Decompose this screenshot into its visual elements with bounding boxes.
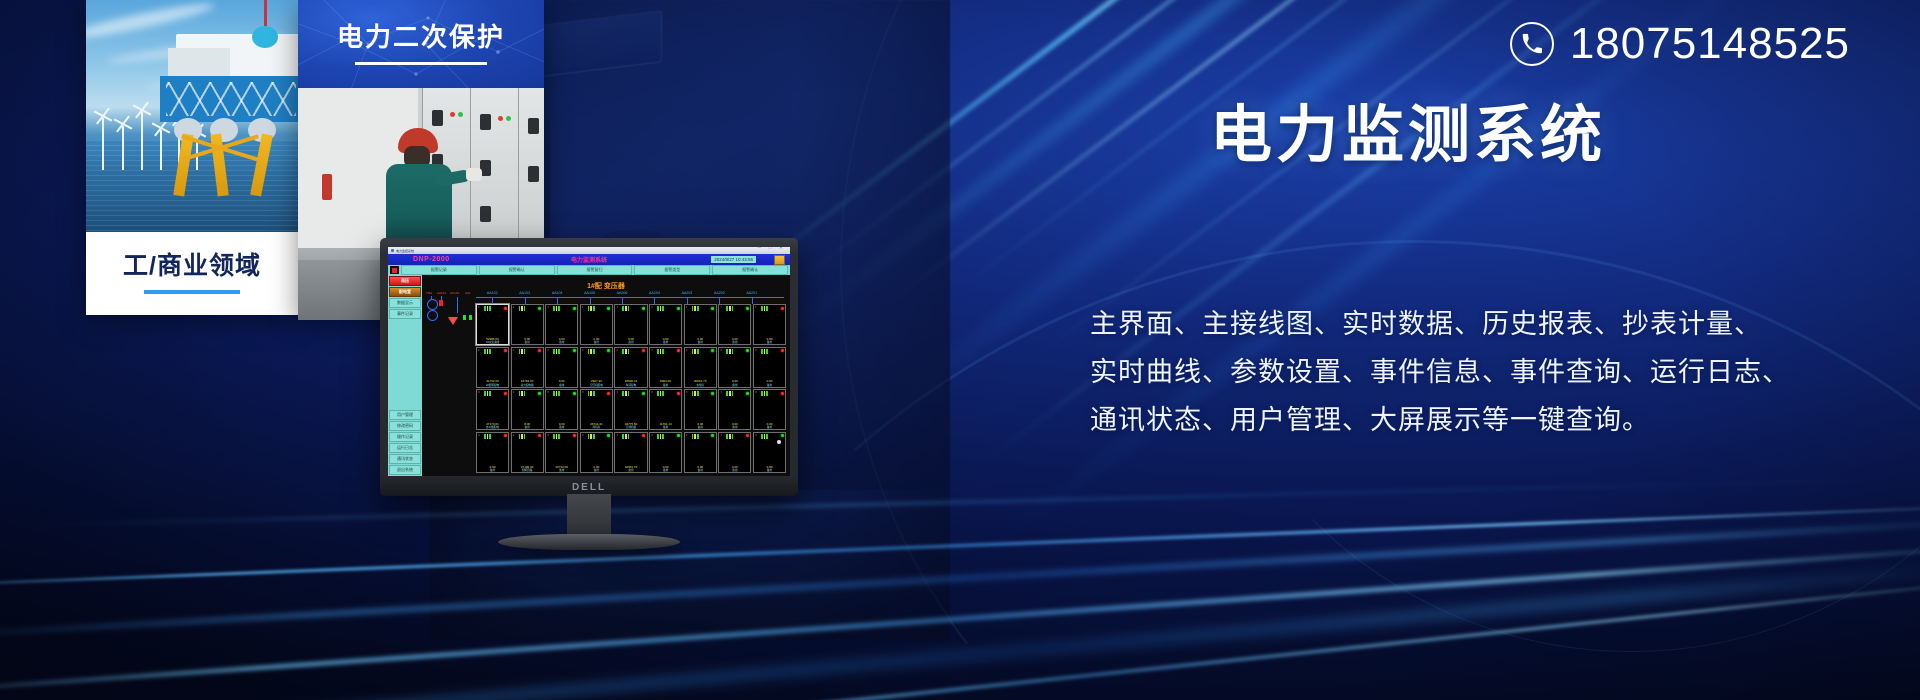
sidebar-spacer — [389, 320, 421, 409]
sidebar-item-oplog[interactable]: 操作记录 — [389, 432, 421, 442]
caption-underline — [144, 290, 240, 294]
feeder-bars — [726, 434, 733, 439]
feeder-column-header: AA104 — [552, 291, 563, 295]
feeder-cell[interactable]: 10.00备用 — [753, 304, 786, 345]
feeder-cell[interactable]: 40.00备用 — [649, 432, 682, 473]
busbar — [476, 297, 784, 298]
feeder-cell[interactable]: 10.00备用 — [511, 304, 544, 345]
feeder-grid[interactable]: 152985.601#主变进线10.00备用10.00备用10.00备用10.0… — [476, 304, 786, 473]
feeder-tag: 备用 — [754, 468, 785, 472]
status-led — [504, 434, 507, 437]
feeder-bars — [622, 434, 629, 439]
feeder-index: 1 — [616, 305, 618, 309]
feeder-tag: 水泵房 — [685, 383, 716, 387]
status-led — [781, 307, 784, 310]
sidebar-item-hv[interactable]: 高压 — [389, 276, 421, 286]
monitor-stand-neck — [567, 494, 611, 538]
feeder-cell[interactable]: 218500.41车间配电 — [614, 347, 647, 388]
feeder-cell[interactable]: 40.00备用 — [476, 432, 509, 473]
feeder-index: 4 — [513, 433, 515, 437]
status-led — [607, 307, 610, 310]
sld-label: TM1 — [426, 291, 432, 295]
offshore-platform-photo — [86, 0, 298, 232]
status-led — [711, 392, 714, 395]
feeder-bars — [657, 306, 664, 311]
status-led — [781, 349, 784, 352]
power-led — [777, 440, 781, 444]
status-led — [504, 349, 507, 352]
feeder-cell[interactable]: 40.00备用 — [718, 432, 751, 473]
status-led — [781, 434, 784, 437]
scada-application[interactable]: 电力监控系统 DNP-2000 电力监测系统 2024/8/27 10:43:5… — [388, 247, 790, 476]
feeder-tag: 动力配电箱 — [512, 383, 543, 387]
toolbar-item[interactable]: 报警记录 — [401, 265, 477, 275]
feeder-bars — [692, 349, 699, 354]
monitor-brand-logo: DELL — [572, 482, 606, 493]
feeder-column-header: AA203 — [681, 291, 692, 295]
bus-drop — [525, 297, 526, 304]
feeder-bars — [761, 391, 768, 396]
diagram-title: 1#配 变压器 — [422, 281, 790, 291]
feeder-tag: 照明回路 — [512, 468, 543, 472]
toolbar-item[interactable]: 报警类型 — [634, 265, 710, 275]
feeder-bars — [761, 434, 768, 439]
feeder-cell[interactable]: 30.00备用 — [718, 389, 751, 430]
feeder-bars — [726, 391, 733, 396]
feeder-bars — [519, 349, 526, 354]
phone-number[interactable]: 18075148525 — [1570, 22, 1850, 66]
status-led — [746, 392, 749, 395]
feeder-cell[interactable]: 216763.00动力配电箱 — [511, 347, 544, 388]
feeder-index: 3 — [478, 390, 480, 394]
app-window-titlebar: 电力监控系统 — [388, 247, 790, 254]
status-led — [607, 392, 610, 395]
feeder-tag: 备用 — [650, 468, 681, 472]
feeder-cell[interactable]: 420712.00备用 — [545, 432, 578, 473]
feeder-tag: 备用 — [754, 383, 785, 387]
status-led — [677, 434, 680, 437]
feeder-index: 3 — [720, 390, 722, 394]
status-led — [677, 349, 680, 352]
feeder-index: 3 — [686, 390, 688, 394]
feeder-tag: 备用 — [685, 340, 716, 344]
feeder-index: 4 — [478, 433, 480, 437]
feeder-bars — [692, 391, 699, 396]
feeder-bars — [484, 391, 491, 396]
feeder-tag: 备用 — [685, 468, 716, 472]
toolbar-item[interactable]: 报警确认 — [479, 265, 555, 275]
status-led — [711, 307, 714, 310]
feeder-cell[interactable]: 432961.70备用 — [614, 432, 647, 473]
feeder-tag: 备用 — [615, 468, 646, 472]
status-led — [538, 349, 541, 352]
status-led — [677, 392, 680, 395]
feeder-cell[interactable]: 10.00备用 — [614, 304, 647, 345]
feeder-tag: 备用 — [546, 425, 577, 429]
feeder-bars — [519, 391, 526, 396]
feeder-index: 3 — [616, 390, 618, 394]
app-brand: DNP-2000 — [413, 256, 450, 263]
feeder-index: 2 — [686, 348, 688, 352]
status-led — [642, 392, 645, 395]
feeder-cell[interactable]: 28904.00备用 — [649, 347, 682, 388]
app-window-caption: 电力监控系统 — [396, 249, 414, 253]
monitor-stand-base — [498, 534, 680, 550]
feeder-index: 2 — [755, 348, 757, 352]
feeder-index: 3 — [547, 390, 549, 394]
description-line: 主界面、主接线图、实时数据、历史报表、抄表计量、 — [1090, 300, 1880, 348]
caption-text: 工/商业领域 — [123, 254, 261, 279]
feeder-tag: 空压机配电 — [581, 383, 612, 387]
feeder-index: 1 — [720, 305, 722, 309]
sidebar-item-exit[interactable]: 退出系统 — [389, 465, 421, 475]
status-led — [573, 349, 576, 352]
bus-drop — [654, 297, 655, 304]
feeder-tag: 1#主变进线 — [477, 340, 508, 344]
status-led — [573, 307, 576, 310]
feeder-bars — [622, 306, 629, 311]
feeder-index: 2 — [720, 348, 722, 352]
sidebar-item-users[interactable]: 用户管理 — [389, 410, 421, 420]
status-led — [504, 392, 507, 395]
sidebar-item-subst[interactable]: 配电室 — [389, 287, 421, 297]
feeder-index: 2 — [478, 348, 480, 352]
feeder-cell[interactable]: 40.00备用 — [753, 432, 786, 473]
feeder-bars — [726, 349, 733, 354]
caption-underline — [355, 62, 487, 65]
bus-drop — [719, 297, 720, 304]
feeder-tag: 2#照明配电 — [477, 383, 508, 387]
sld-label: AA1 — [465, 291, 471, 295]
app-system-name: 电力监测系统 — [571, 255, 607, 264]
feeder-index: 3 — [755, 390, 757, 394]
feeder-index: 4 — [755, 433, 757, 437]
feeder-column-header: AA105 — [584, 291, 595, 295]
feeder-cell[interactable]: 10.00备用 — [684, 304, 717, 345]
feeder-index: 2 — [651, 348, 653, 352]
feeder-bars — [588, 434, 595, 439]
feeder-index: 1 — [686, 305, 688, 309]
status-led — [711, 434, 714, 437]
feeder-tag: 备用 — [650, 340, 681, 344]
feeder-cell[interactable]: 326714.41风机房 — [580, 389, 613, 430]
feeder-cell[interactable]: 30.00备用 — [545, 389, 578, 430]
feeder-column-header: AA206 — [617, 291, 628, 295]
feeder-tag: 备用 — [719, 468, 750, 472]
feeder-index: 3 — [513, 390, 515, 394]
feeder-tag: 备用 — [546, 383, 577, 387]
feeder-bars — [484, 434, 491, 439]
status-led — [781, 392, 784, 395]
feeder-index: 1 — [651, 305, 653, 309]
feeder-cell[interactable]: 10.00备用 — [545, 304, 578, 345]
feeder-tag: 备用 — [581, 468, 612, 472]
status-led — [642, 434, 645, 437]
feeder-bars — [519, 306, 526, 311]
feeder-cell[interactable]: 327170.61办公楼配电 — [476, 389, 509, 430]
feeder-bars — [588, 306, 595, 311]
feeder-bars — [761, 306, 768, 311]
bus-drop — [557, 297, 558, 304]
feeder-index: 3 — [651, 390, 653, 394]
app-sidebar[interactable]: 高压 配电室 数据显示 事件记录 用户管理 修改密码 操作记录 运行日志 通讯状… — [388, 275, 422, 476]
feeder-cell[interactable]: 22907.30空压机配电 — [580, 347, 613, 388]
feeder-bars — [657, 434, 664, 439]
page-title: 电力监测系统 — [1210, 105, 1606, 167]
status-led — [538, 307, 541, 310]
status-led — [607, 434, 610, 437]
feeder-tag: 备用 — [546, 468, 577, 472]
description-line: 实时曲线、参数设置、事件信息、事件查询、运行日志、 — [1090, 348, 1880, 396]
sidebar-item-data[interactable]: 数据显示 — [389, 298, 421, 308]
bus-drop — [492, 297, 493, 304]
sidebar-item-events[interactable]: 事件记录 — [389, 309, 421, 319]
sidebar-item-comm[interactable]: 通讯状态 — [389, 454, 421, 464]
sidebar-item-password[interactable]: 修改密码 — [389, 421, 421, 431]
feeder-bars — [726, 306, 733, 311]
bus-drop — [752, 297, 753, 304]
status-led — [538, 434, 541, 437]
feeder-bars — [622, 349, 629, 354]
feeder-index: 2 — [547, 348, 549, 352]
feeder-index: 3 — [582, 390, 584, 394]
app-window-icon — [391, 249, 394, 252]
feeder-cell[interactable]: 10.00备用 — [718, 304, 751, 345]
feeder-cell[interactable]: 38.00备用 — [511, 389, 544, 430]
feeder-cell[interactable]: 230061.70水泵房 — [684, 347, 717, 388]
monitor-screen: 电力监控系统 DNP-2000 电力监测系统 2024/8/27 10:43:5… — [388, 247, 790, 476]
feeder-tag: 备用 — [650, 383, 681, 387]
feeder-tag: 备用 — [754, 425, 785, 429]
feeder-cell[interactable]: 334775.50空调机组 — [614, 389, 647, 430]
feeder-bars — [553, 306, 560, 311]
bus-drop — [687, 297, 688, 304]
feeder-index: 4 — [616, 433, 618, 437]
feeder-column-header: AA102 — [487, 291, 498, 295]
feeder-index: 1 — [478, 305, 480, 309]
toolbar-item[interactable]: 报警确认 — [712, 265, 788, 275]
feeder-tag: 备用 — [477, 468, 508, 472]
feeder-bars — [484, 349, 491, 354]
desktop-monitor: 电力监控系统 DNP-2000 电力监测系统 2024/8/27 10:43:5… — [380, 238, 798, 550]
feeder-bars — [622, 391, 629, 396]
single-line-diagram: TM1 AA101 AC101 AA1 — [424, 291, 474, 473]
feeder-tag: 备用 — [754, 340, 785, 344]
feeder-tag: 备用 — [685, 425, 716, 429]
status-led — [746, 349, 749, 352]
bus-drop — [622, 297, 623, 304]
status-led — [504, 307, 507, 310]
feeder-cell[interactable]: 20.00备用 — [718, 347, 751, 388]
feeder-tag: 备用 — [512, 340, 543, 344]
toolbar-item[interactable]: 报警复归 — [557, 265, 633, 275]
feeder-bars — [692, 434, 699, 439]
caption-industrial-commercial: 工/商业领域 — [86, 232, 298, 315]
feeder-cell[interactable]: 10.00备用 — [649, 304, 682, 345]
feeder-tag: 备用 — [512, 425, 543, 429]
alarm-stop-button[interactable] — [390, 266, 399, 274]
status-led — [642, 349, 645, 352]
contact-phone[interactable]: 18075148525 — [1510, 22, 1850, 66]
status-led — [538, 392, 541, 395]
status-led — [642, 307, 645, 310]
card-industrial-commercial: 工/商业领域 — [86, 0, 298, 315]
feeder-tag: 车间配电 — [615, 383, 646, 387]
feeder-index: 4 — [582, 433, 584, 437]
caption-text: 电力二次保护 — [337, 24, 505, 50]
app-toolbar[interactable]: 报警记录 报警确认 报警复归 报警类型 报警确认 — [388, 265, 790, 275]
sld-label: AC101 — [450, 291, 459, 295]
feeder-bars — [519, 434, 526, 439]
feeder-cell[interactable]: 427106.30照明回路 — [511, 432, 544, 473]
feeder-index: 2 — [513, 348, 515, 352]
feeder-index: 4 — [720, 433, 722, 437]
app-logo-icon — [774, 255, 785, 265]
feeder-tag: 空调机组 — [615, 425, 646, 429]
status-led — [746, 434, 749, 437]
feeder-tag: 备用 — [650, 425, 681, 429]
feeder-column-header: AA204 — [649, 291, 660, 295]
feeder-bars — [553, 434, 560, 439]
feeder-index: 4 — [651, 433, 653, 437]
feeder-tag: 风机房 — [581, 425, 612, 429]
app-clock: 2024/8/27 10:43:56 — [711, 256, 756, 263]
feeder-cell[interactable]: 20.00备用 — [753, 347, 786, 388]
feeder-index: 1 — [547, 305, 549, 309]
feeder-cell[interactable]: 40.00备用 — [684, 432, 717, 473]
app-main-diagram: 1#配 变压器 TM1 AA101 AC101 AA1 — [422, 275, 790, 476]
feeder-index: 1 — [755, 305, 757, 309]
feeder-index: 1 — [582, 305, 584, 309]
feeder-tag: 备用 — [719, 340, 750, 344]
feeder-column-header: AA201 — [746, 291, 757, 295]
feeder-tag: 备用 — [546, 340, 577, 344]
promo-banner: 工/商业领域 — [0, 0, 1920, 700]
feeder-index: 4 — [547, 433, 549, 437]
status-led — [607, 349, 610, 352]
window-controls[interactable]: ─ □ ✕ — [757, 247, 786, 251]
app-body: 高压 配电室 数据显示 事件记录 用户管理 修改密码 操作记录 运行日志 通讯状… — [388, 275, 790, 476]
feeder-bars — [553, 391, 560, 396]
feeder-tag: 备用 — [581, 340, 612, 344]
feeder-cell[interactable]: 30.00备用 — [684, 389, 717, 430]
feeder-bars — [553, 349, 560, 354]
feeder-cell[interactable]: 20.00备用 — [545, 347, 578, 388]
feeder-index: 2 — [616, 348, 618, 352]
feeder-tag: 备用 — [615, 340, 646, 344]
feeder-bars — [657, 349, 664, 354]
feeder-column-header: AA202 — [714, 291, 725, 295]
feeder-cell[interactable]: 10.00备用 — [580, 304, 613, 345]
app-header: DNP-2000 电力监测系统 2024/8/27 10:43:56 ─ □ ✕ — [388, 254, 790, 265]
sidebar-item-runlog[interactable]: 运行日志 — [389, 443, 421, 453]
status-led — [746, 307, 749, 310]
feature-description: 主界面、主接线图、实时数据、历史报表、抄表计量、 实时曲线、参数设置、事件信息、… — [1090, 300, 1880, 444]
sld-label: AA101 — [437, 291, 446, 295]
feeder-tag: 备用 — [719, 383, 750, 387]
description-line: 通讯状态、用户管理、大屏展示等一键查询。 — [1090, 396, 1880, 444]
feeder-index: 4 — [686, 433, 688, 437]
feeder-tag: 备用 — [719, 425, 750, 429]
feeder-index: 1 — [513, 305, 515, 309]
status-led — [711, 349, 714, 352]
feeder-bars — [692, 306, 699, 311]
feeder-bars — [761, 349, 768, 354]
feeder-index: 2 — [582, 348, 584, 352]
feeder-column-header: AA103 — [519, 291, 530, 295]
feeder-bars — [657, 391, 664, 396]
feeder-bars — [588, 349, 595, 354]
status-led — [677, 307, 680, 310]
feeder-cell[interactable]: 152985.601#主变进线 — [476, 304, 509, 345]
phone-circle-icon — [1510, 22, 1554, 66]
bus-drop — [590, 297, 591, 304]
status-led — [573, 434, 576, 437]
monitor-bezel: 电力监控系统 DNP-2000 电力监测系统 2024/8/27 10:43:5… — [380, 238, 798, 496]
caption-power-secondary-protection: 电力二次保护 — [298, 0, 544, 88]
feeder-bars — [484, 306, 491, 311]
feeder-bars — [588, 391, 595, 396]
feeder-cell[interactable]: 231752.202#照明配电 — [476, 347, 509, 388]
feeder-cell[interactable]: 311791.13备用 — [649, 389, 682, 430]
feeder-cell[interactable]: 30.00备用 — [753, 389, 786, 430]
feeder-cell[interactable]: 40.00备用 — [580, 432, 613, 473]
status-led — [573, 392, 576, 395]
feeder-tag: 办公楼配电 — [477, 425, 508, 429]
